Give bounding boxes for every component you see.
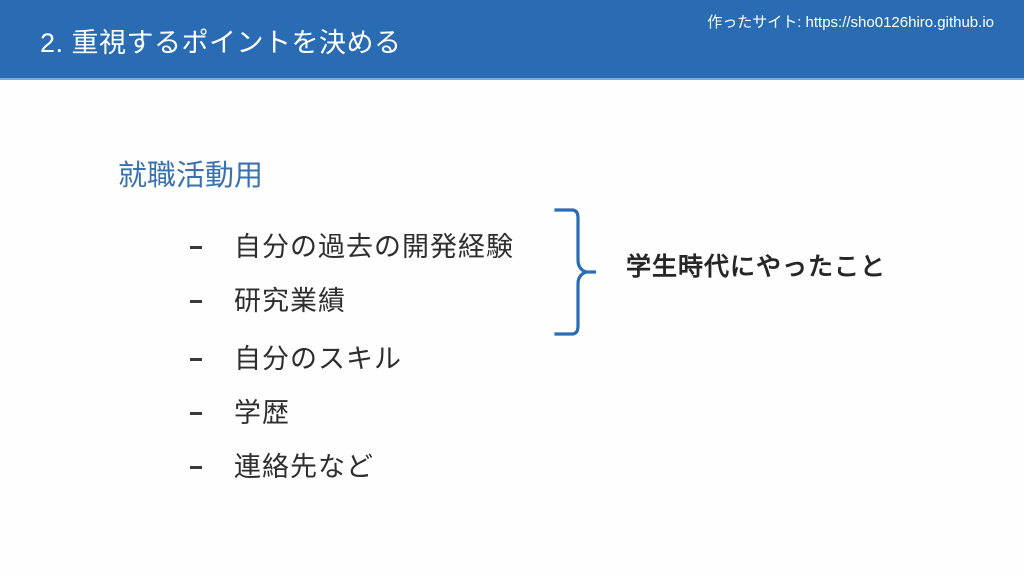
list-item: 研究業績 bbox=[190, 274, 590, 328]
dash-bullet-icon bbox=[190, 412, 202, 415]
grouping-brace-icon bbox=[552, 207, 598, 337]
list-item: 自分の過去の開発経験 bbox=[190, 220, 590, 274]
dash-bullet-icon bbox=[190, 466, 202, 469]
list-item-label: 研究業績 bbox=[234, 286, 346, 316]
group-annotation-label: 学生時代にやったこと bbox=[626, 251, 886, 283]
header-site-url[interactable]: 作ったサイト: https://sho0126hiro.github.io bbox=[707, 14, 994, 32]
bullet-list: 自分の過去の開発経験 研究業績 自分のスキル 学歴 連絡先など bbox=[190, 220, 590, 494]
list-item-label: 連絡先など bbox=[234, 452, 374, 482]
slide-canvas: 2. 重視するポイントを決める 作ったサイト: https://sho0126h… bbox=[0, 0, 1024, 576]
dash-bullet-icon bbox=[190, 246, 202, 249]
list-item-label: 自分の過去の開発経験 bbox=[234, 232, 514, 262]
page-title: 2. 重視するポイントを決める bbox=[40, 27, 402, 59]
dash-bullet-icon bbox=[190, 358, 202, 361]
list-item-label: 自分のスキル bbox=[234, 344, 402, 374]
list-item: 自分のスキル bbox=[190, 332, 590, 386]
slide-body: 就職活動用 自分の過去の開発経験 研究業績 自分のスキル 学歴 連絡先など bbox=[0, 80, 1024, 576]
list-item: 学歴 bbox=[190, 386, 590, 440]
list-item: 連絡先など bbox=[190, 440, 590, 494]
dash-bullet-icon bbox=[190, 300, 202, 303]
section-heading: 就職活動用 bbox=[118, 158, 263, 194]
list-item-label: 学歴 bbox=[234, 398, 290, 428]
